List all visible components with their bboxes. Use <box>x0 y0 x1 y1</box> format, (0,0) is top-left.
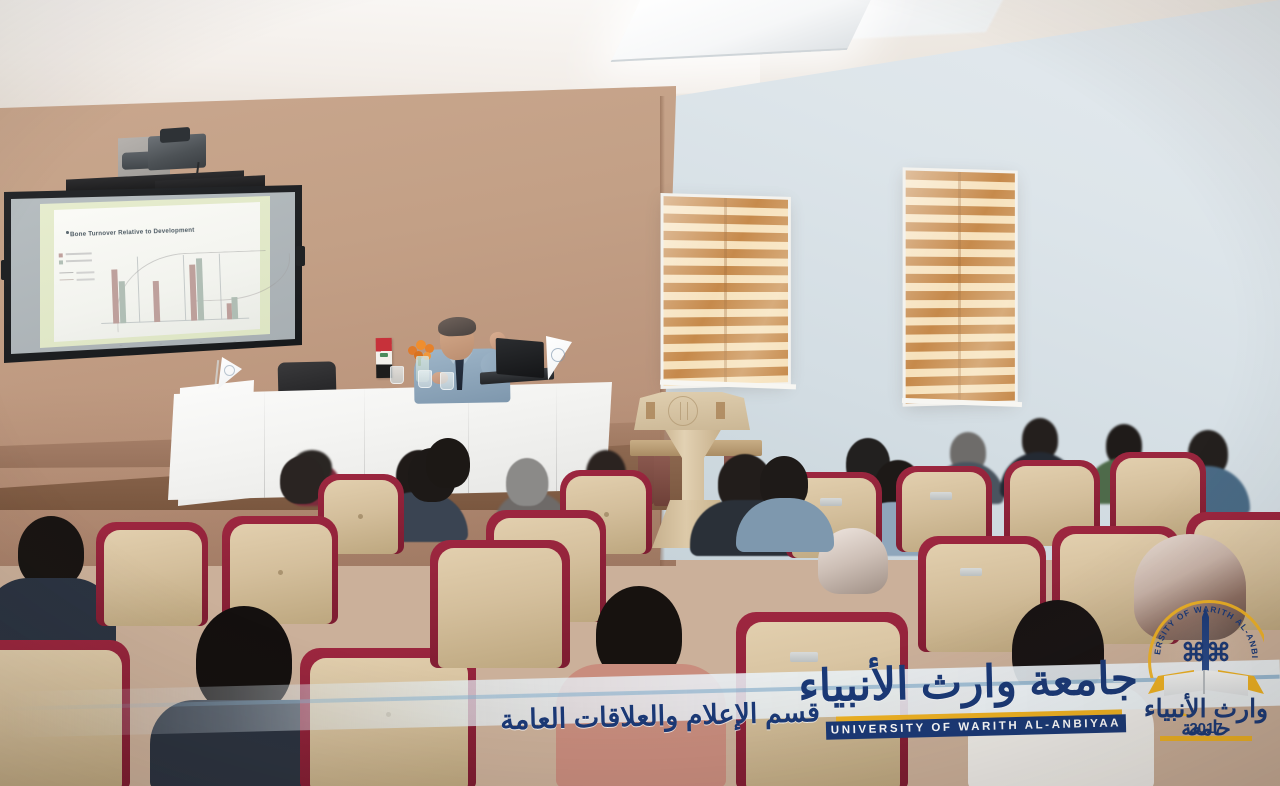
water-glass <box>390 366 404 384</box>
podium-inlay-right <box>716 402 725 419</box>
chart-legend-label-4 <box>77 278 95 281</box>
attendee-head <box>506 458 548 506</box>
pennant-emblem-icon <box>224 365 235 376</box>
chart-legend-swatch-1 <box>59 253 63 257</box>
laptop-screen <box>496 338 545 378</box>
crest-book-spine <box>1203 670 1205 694</box>
seat-screw <box>604 512 609 517</box>
window-right <box>906 170 1015 403</box>
seat-back <box>438 548 562 668</box>
chart-bar <box>231 297 238 319</box>
university-name-arabic: جامعة وارث الأنبياء <box>817 648 1138 718</box>
tablecloth-fold <box>556 382 557 500</box>
projector-head <box>160 127 190 143</box>
presenter-hair <box>438 316 477 337</box>
seat-label-plate <box>820 498 842 506</box>
chart-legend-label-2 <box>66 259 92 262</box>
seat-screw <box>358 514 363 519</box>
slide-bullet-icon <box>66 231 69 234</box>
attendee-head <box>426 438 470 488</box>
chart-bar <box>111 269 119 323</box>
stage-chair <box>654 456 670 506</box>
water-glass <box>418 370 432 388</box>
seat-screw <box>278 570 283 575</box>
chart-legend-label-1 <box>66 252 92 255</box>
chart-legend-label-3 <box>76 271 94 274</box>
window-left <box>664 196 788 386</box>
seat-label-plate <box>960 568 982 576</box>
chart-legend-line-2 <box>60 279 74 281</box>
window-right-sheen <box>906 170 1015 403</box>
chart-legend-swatch-2 <box>59 260 63 264</box>
window-left-sheen <box>664 196 788 386</box>
university-crest: UNIVERSITY OF WARITH AL-ANBIYAA ⌘⌘ وارث … <box>1142 596 1270 746</box>
whiteboard-tray-right <box>296 246 305 266</box>
slide-bar-chart: ▪▪▪ ▪▪▪ ▪▪▪ ▪▪▪ <box>54 236 257 339</box>
water-glass <box>440 372 454 390</box>
crest-calligraphy-icon: ⌘⌘ <box>1174 636 1238 670</box>
tablecloth-fold <box>264 382 265 500</box>
crest-gold-bar <box>1160 736 1252 741</box>
photo-scene: Bone Turnover Relative to Development <box>0 0 1280 786</box>
seat-back <box>104 530 202 626</box>
whiteboard-tray-left <box>1 260 10 280</box>
chart-legend-line-1 <box>59 272 73 274</box>
podium-emblem-icon <box>668 396 698 426</box>
pennant-emblem-icon-right <box>551 348 565 362</box>
podium-inlay-left <box>646 402 655 419</box>
seat-label-plate <box>930 492 952 500</box>
